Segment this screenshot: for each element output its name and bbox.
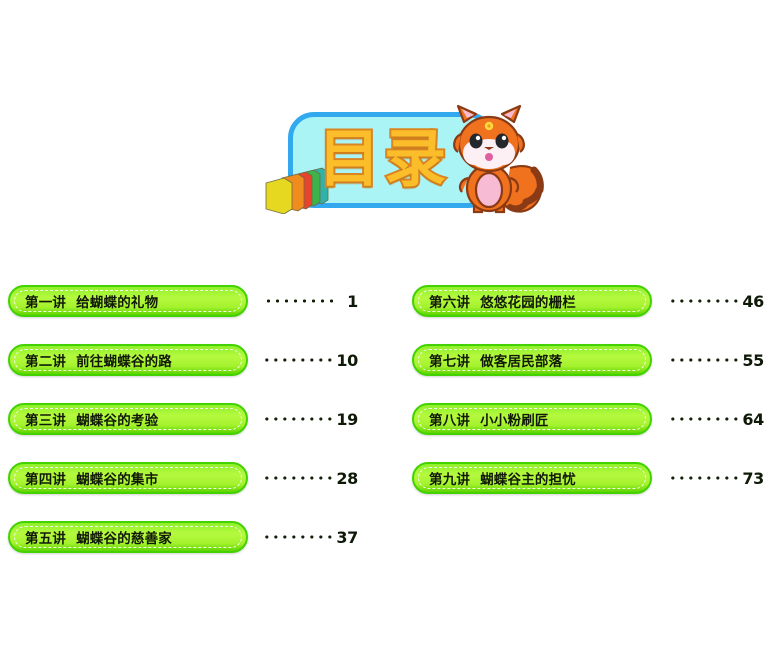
toc-leader: 46 <box>652 285 764 317</box>
toc-pill[interactable]: 第三讲蝴蝶谷的考验 <box>8 403 248 435</box>
toc-entry[interactable]: 第四讲蝴蝶谷的集市 28 <box>8 462 358 494</box>
dot-leader <box>666 353 740 367</box>
toc-pill[interactable]: 第七讲做客居民部落 <box>412 344 652 376</box>
toc-entry[interactable]: 第二讲前往蝴蝶谷的路 10 <box>8 344 358 376</box>
dot-leader <box>666 412 740 426</box>
toc-label: 第八讲小小粉刷匠 <box>414 409 549 429</box>
toc-chapter-number: 第一讲 <box>25 295 66 311</box>
toc-label: 第六讲悠悠花园的栅栏 <box>414 291 576 311</box>
toc-entry[interactable]: 第九讲蝴蝶谷主的担忧 73 <box>412 462 764 494</box>
toc-pill[interactable]: 第八讲小小粉刷匠 <box>412 403 652 435</box>
toc-right-column: 第六讲悠悠花园的栅栏 46 第七讲做客居民部落 55 第八讲小小 <box>412 285 764 521</box>
toc-leader: 10 <box>248 344 358 376</box>
toc-chapter-number: 第九讲 <box>429 472 470 488</box>
toc-page-number: 10 <box>336 351 358 370</box>
toc-chapter-number: 第四讲 <box>25 472 66 488</box>
toc-entry[interactable]: 第一讲给蝴蝶的礼物 1 <box>8 285 358 317</box>
toc-page-number: 37 <box>336 528 358 547</box>
toc-chapter-number: 第七讲 <box>429 354 470 370</box>
dot-leader <box>666 294 740 308</box>
dot-leader <box>262 353 334 367</box>
toc-leader: 73 <box>652 462 764 494</box>
toc-pill[interactable]: 第四讲蝴蝶谷的集市 <box>8 462 248 494</box>
toc-chapter-title: 蝴蝶谷的慈善家 <box>76 531 172 547</box>
toc-leader: 19 <box>248 403 358 435</box>
toc-leader: 64 <box>652 403 764 435</box>
toc-label: 第五讲蝴蝶谷的慈善家 <box>10 527 172 547</box>
toc-entry[interactable]: 第八讲小小粉刷匠 64 <box>412 403 764 435</box>
toc-label: 第四讲蝴蝶谷的集市 <box>10 468 158 488</box>
toc-leader: 37 <box>248 521 358 553</box>
toc-chapter-title: 蝴蝶谷的集市 <box>76 472 158 488</box>
toc-label: 第一讲给蝴蝶的礼物 <box>10 291 158 311</box>
toc-chapter-title: 给蝴蝶的礼物 <box>76 295 158 311</box>
toc-page-number: 46 <box>742 292 764 311</box>
toc-chapter-title: 悠悠花园的栅栏 <box>480 295 576 311</box>
toc-chapter-number: 第三讲 <box>25 413 66 429</box>
toc-pill[interactable]: 第九讲蝴蝶谷主的担忧 <box>412 462 652 494</box>
toc-label: 第二讲前往蝴蝶谷的路 <box>10 350 172 370</box>
toc-page-number: 28 <box>336 469 358 488</box>
toc-label: 第七讲做客居民部落 <box>414 350 562 370</box>
dot-leader <box>262 471 334 485</box>
toc-leader: 28 <box>248 462 358 494</box>
toc-entry[interactable]: 第七讲做客居民部落 55 <box>412 344 764 376</box>
toc-chapter-number: 第五讲 <box>25 531 66 547</box>
dot-leader <box>262 530 334 544</box>
toc-chapter-number: 第二讲 <box>25 354 66 370</box>
toc-chapter-title: 做客居民部落 <box>480 354 562 370</box>
toc-label: 第九讲蝴蝶谷主的担忧 <box>414 468 576 488</box>
toc-left-column: 第一讲给蝴蝶的礼物 1 第二讲前往蝴蝶谷的路 10 第三讲蝴蝶谷 <box>8 285 358 580</box>
toc-chapter-title: 前往蝴蝶谷的路 <box>76 354 172 370</box>
toc-pill[interactable]: 第二讲前往蝴蝶谷的路 <box>8 344 248 376</box>
toc-chapter-title: 蝴蝶谷的考验 <box>76 413 158 429</box>
toc-page-number: 19 <box>336 410 358 429</box>
toc-chapter-number: 第六讲 <box>429 295 470 311</box>
toc-pill[interactable]: 第一讲给蝴蝶的礼物 <box>8 285 248 317</box>
toc-page-number: 55 <box>742 351 764 370</box>
toc-page-number: 1 <box>338 292 358 311</box>
toc-entry[interactable]: 第六讲悠悠花园的栅栏 46 <box>412 285 764 317</box>
dot-leader <box>262 412 334 426</box>
toc-page-number: 73 <box>742 469 764 488</box>
toc-pill[interactable]: 第五讲蝴蝶谷的慈善家 <box>8 521 248 553</box>
toc-chapter-title: 蝴蝶谷主的担忧 <box>480 472 576 488</box>
toc-chapter-title: 小小粉刷匠 <box>480 413 549 429</box>
toc-leader: 55 <box>652 344 764 376</box>
toc-leader: 1 <box>248 285 358 317</box>
table-of-contents: 第一讲给蝴蝶的礼物 1 第二讲前往蝴蝶谷的路 10 第三讲蝴蝶谷 <box>0 0 771 650</box>
toc-pill[interactable]: 第六讲悠悠花园的栅栏 <box>412 285 652 317</box>
dot-leader <box>666 471 740 485</box>
toc-entry[interactable]: 第三讲蝴蝶谷的考验 19 <box>8 403 358 435</box>
toc-label: 第三讲蝴蝶谷的考验 <box>10 409 158 429</box>
toc-entry[interactable]: 第五讲蝴蝶谷的慈善家 37 <box>8 521 358 553</box>
toc-page-number: 64 <box>742 410 764 429</box>
dot-leader <box>262 294 336 308</box>
toc-chapter-number: 第八讲 <box>429 413 470 429</box>
